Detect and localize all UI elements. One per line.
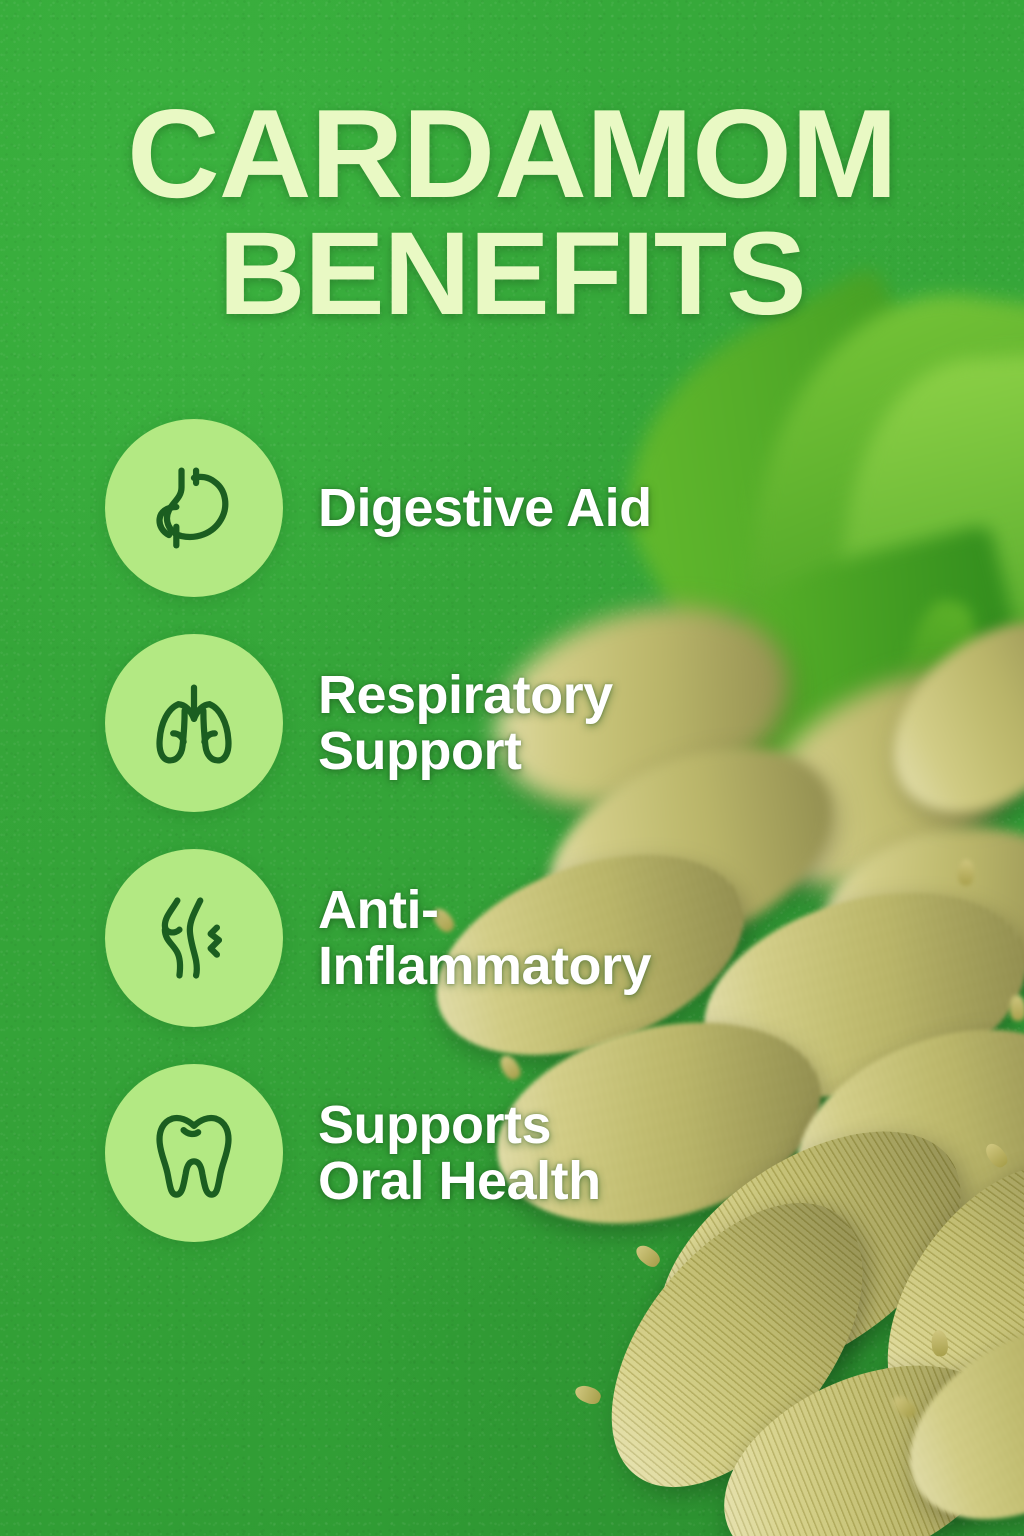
benefit-item-anti-inflammatory[interactable]: Anti- Inflammatory [105,848,865,1028]
benefit-item-respiratory[interactable]: Respiratory Support [105,633,865,813]
title-line-2: BENEFITS [47,220,977,329]
benefit-item-digestive[interactable]: Digestive Aid [105,418,865,598]
page-title: CARDAMOM BENEFITS [0,96,1024,328]
joint-pain-icon [105,849,283,1027]
tooth-icon [105,1064,283,1242]
benefits-list: Digestive Aid Respiratory Support [105,418,865,1243]
lungs-icon [105,634,283,812]
benefit-label-anti-inflammatory: Anti- Inflammatory [318,882,651,994]
benefit-label-digestive: Digestive Aid [318,480,652,536]
cardamom-benefits-poster: CARDAMOM BENEFITS Digestive Aid [0,0,1024,1536]
title-line-1: CARDAMOM [47,96,977,212]
benefit-item-oral-health[interactable]: Supports Oral Health [105,1063,865,1243]
stomach-icon [105,419,283,597]
benefit-label-oral-health: Supports Oral Health [318,1097,601,1209]
benefit-label-respiratory: Respiratory Support [318,667,613,779]
